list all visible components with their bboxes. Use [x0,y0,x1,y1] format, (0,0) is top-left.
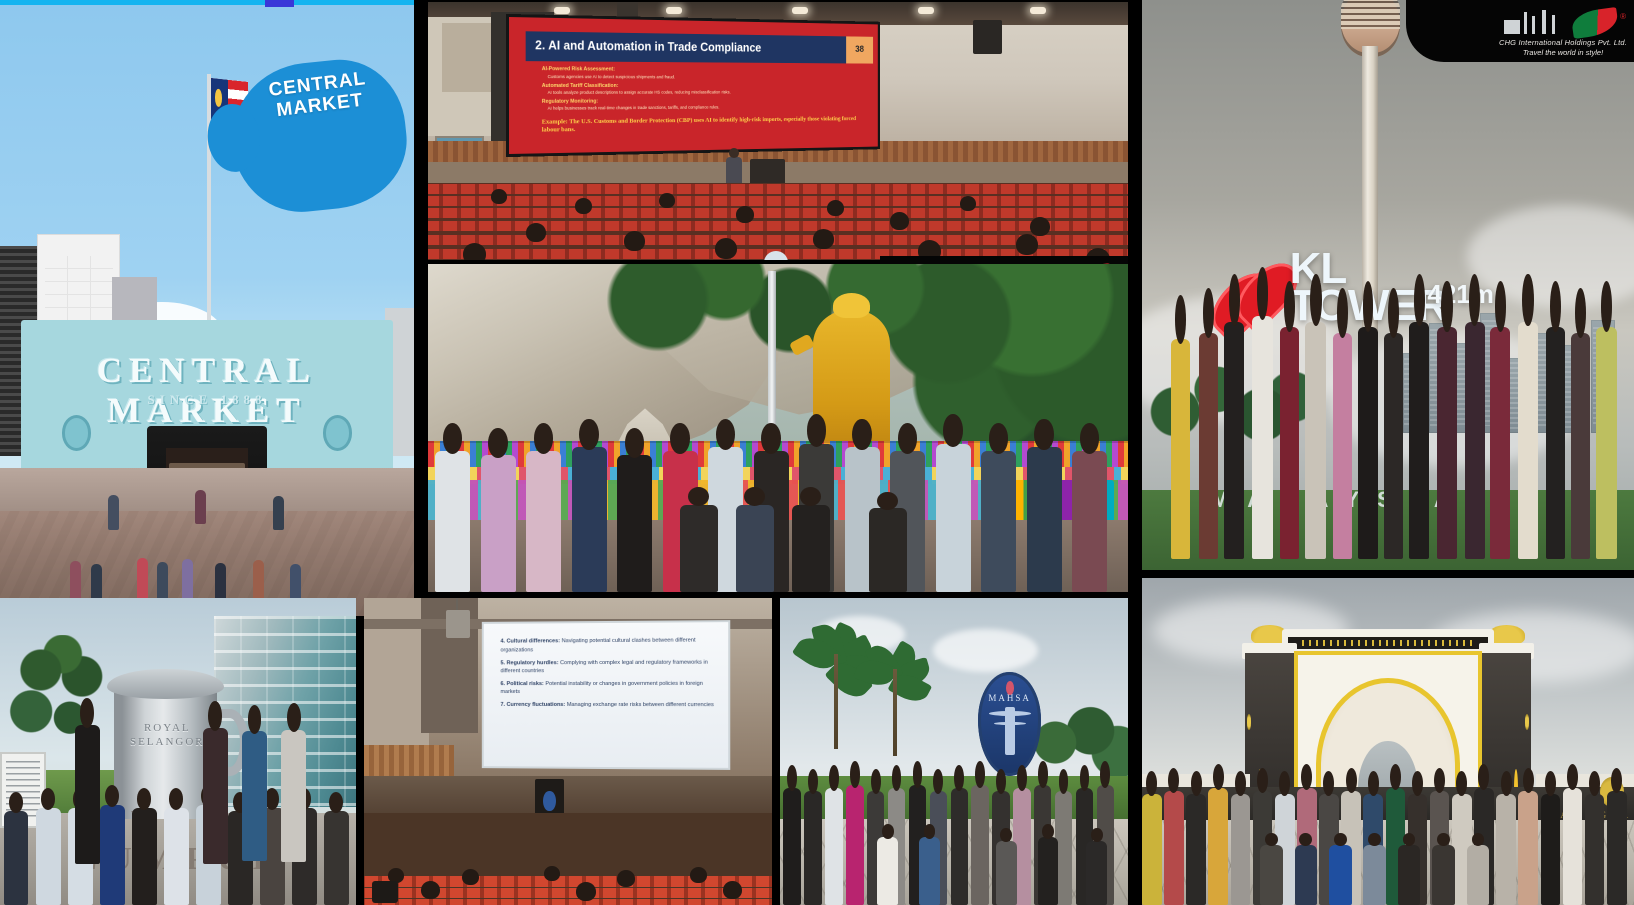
group-member [1490,327,1510,558]
slide-bullet-heading: Currency fluctuations: [507,702,566,708]
group-member [1518,322,1538,559]
presentation-screen: 2. AI and Automation in Trade Compliance… [509,17,878,154]
group-member-kneeling [1432,845,1455,905]
group-member [1358,327,1377,558]
photo-tile-kl-tower[interactable]: KL TOWER 421m MALAYSIA [1142,0,1634,570]
watermark-company: CHG International Holdings Pvt. Ltd. [1498,38,1628,47]
group-member-kneeling [1363,845,1386,905]
group-member [981,451,1016,592]
group-member-standing [242,731,267,861]
group-member-front [1086,841,1107,905]
group-member-kneeling [1295,845,1318,905]
slide-number: 38 [846,37,873,64]
audience-member [526,223,546,242]
slide-bullet-number: 7. [501,702,506,708]
audience-member [827,200,844,216]
seat-row [428,184,1128,194]
group-member-front [869,508,907,592]
group-member-front [877,837,898,905]
group-member [1171,339,1190,558]
group-member-standing [203,728,228,864]
audience-member [890,212,909,230]
slide-bullet-number: 5. [501,660,506,666]
royal-selangor-photo: ROYAL SELANGOR KUALA LUMPUR [0,598,356,905]
group-member [804,791,821,905]
slide-bullet-text: Managing exchange rate risks between dif… [567,702,714,708]
audience-member [624,231,645,251]
visitor [108,495,119,529]
audience-member [659,193,675,208]
central-market-since: SINCE 1888 [21,392,394,408]
photo-tile-lecture-risks-slide[interactable]: 4. Cultural differences: Navigating pote… [364,598,772,905]
group-member [1541,794,1561,905]
audience-member [736,206,754,223]
group-member [936,444,971,592]
audience-member [617,870,635,887]
decor-strip [0,0,414,5]
caduceus-icon [1005,707,1015,755]
group-member-standing [281,730,306,863]
group-member-kneeling [1467,845,1490,905]
slide-bullet-text: AI helps businesses track real-time chan… [547,105,864,113]
slide-bullet-text: AI tools analyze product descriptions to… [547,90,864,97]
group-member-kneeling [1329,845,1352,905]
group-member-front [996,841,1017,905]
group-member [1333,333,1352,558]
facade-medallion [62,415,92,451]
group-member [1596,327,1616,558]
skyline-icon: ® [1498,8,1628,38]
projector [446,610,470,638]
watermark-tagline: Travel the world in style! [1498,48,1628,57]
ceiling-light [1030,7,1046,14]
speaker-box-icon [973,20,1002,54]
seat-row [364,899,772,905]
group-member [1585,794,1605,905]
group-member [1224,322,1244,559]
palm-tree [857,629,941,764]
group-member [846,785,863,905]
group-member [1027,447,1062,592]
group-member-standing [75,725,100,864]
audience-member [491,189,507,204]
auditorium-photo: 2. AI and Automation in Trade Compliance… [428,2,1128,260]
group-member [1409,322,1429,559]
group-member [951,788,968,905]
audience-member [462,869,479,885]
group-member [481,455,516,592]
slide-bullet-heading: Cultural differences: [507,638,561,644]
group-member [971,785,988,905]
group-member [164,808,189,905]
tour-group [0,758,356,905]
visitor [195,490,206,523]
palm-trunk [834,654,839,748]
group-member [100,805,125,905]
tour-group [1142,755,1634,905]
palm-trunk [893,669,897,755]
tankard-lid [107,669,224,700]
slide-bullet: 4. Cultural differences: Navigating pote… [501,636,716,654]
projector [617,2,638,17]
arabic-calligraphy [1288,637,1488,649]
gate-medallion [1525,714,1529,729]
central-market-photo: CENTRAL MARKET SINCE 1888 [0,0,414,616]
mahsa-emblem-text: MAHSA [978,693,1041,703]
group-member [324,811,349,905]
group-member [1465,322,1485,559]
group-member [1199,333,1218,558]
slide-bullet: 7. Currency fluctuations: Managing excha… [501,701,716,710]
istana-negara-photo: ISTANA NEGARA [1142,578,1634,905]
group-member [572,447,607,592]
facade-medallion [323,415,353,451]
audience-member [1030,217,1050,236]
group-member [1231,794,1251,905]
slide-bullet: 6. Political risks: Potential instabilit… [501,679,716,696]
ceiling-light [554,7,570,14]
watermark-corner: ® CHG International Holdings Pvt. Ltd. T… [1406,0,1634,62]
group-member [1546,327,1565,558]
group-member [617,455,652,592]
tour-group [428,402,1128,592]
photo-tile-batu-caves[interactable] [428,264,1128,592]
group-member [1164,791,1184,905]
photo-tile-mahsa-university[interactable]: MAHSA [780,598,1128,905]
group-member-front [680,505,718,593]
group-member [1437,327,1457,558]
group-member [1142,794,1162,905]
seat-row [428,208,1128,218]
group-member [1607,791,1627,905]
group-member [36,808,61,905]
audience-member [463,243,486,260]
photo-collage: CENTRAL MARKET SINCE 1888 [0,0,1634,905]
audience-member [544,866,560,881]
slide-title-band: 2. AI and Automation in Trade Compliance [525,31,864,63]
photo-tile-central-market[interactable]: CENTRAL MARKET SINCE 1888 [0,0,414,616]
slide-bullet-text: Customs agencies use AI to detect suspic… [547,74,864,81]
seating-area [428,183,1128,260]
slide-body: AI-Powered Risk Assessment: Customs agen… [541,67,864,151]
group-member [1252,316,1273,559]
audience-member [575,198,592,214]
ceiling-light [792,7,808,14]
group-member [132,808,157,905]
visitor [273,496,284,530]
audience-member [813,229,834,249]
group-member [825,788,842,905]
tour-group [1162,262,1625,558]
photo-tile-auditorium-ai-slide[interactable]: 2. AI and Automation in Trade Compliance… [428,2,1128,260]
audience-member [421,881,440,899]
tankard-engraving: ROYAL SELANGOR [128,721,206,750]
ceiling-light [666,7,682,14]
audience-member [723,881,742,899]
slide-bullet-number: 6. [501,681,506,687]
mahsa-university-photo: MAHSA [780,598,1128,905]
audience-member [576,882,596,901]
bag [372,881,398,903]
tour-group [780,752,1128,905]
seating-area [364,813,772,905]
slide-body: 4. Cultural differences: Navigating pote… [501,636,716,761]
audience-member [690,867,707,883]
group-member-front [792,505,830,593]
group-member-front [919,837,940,905]
group-member [1280,327,1299,558]
tankard-engraving-line2: SELANGOR [130,736,205,748]
audience-member [960,196,976,211]
decor-strip-blue [265,0,294,7]
group-member [1384,333,1403,558]
group-member [4,811,29,905]
slide-title: 2. AI and Automation in Trade Compliance [535,39,761,56]
ceiling-light [918,7,934,14]
lecture-hall-photo: 4. Cultural differences: Navigating pote… [364,598,772,905]
group-member [1571,333,1590,558]
photo-tile-istana-negara[interactable]: ISTANA NEGARA [1142,578,1634,905]
group-member [526,451,561,592]
group-member [1186,794,1206,905]
slide-bullet-heading: Regulatory hurdles: [507,659,559,665]
slide-example: Example: The U.S. Customs and Border Pro… [541,116,864,135]
presenter [726,157,743,183]
watermark-logo: ® CHG International Holdings Pvt. Ltd. T… [1498,8,1628,57]
group-member-front [736,505,774,593]
presentation-screen: 4. Cultural differences: Navigating pote… [484,622,728,768]
group-member-front [1038,837,1059,905]
seat-row [428,196,1128,206]
group-member [783,788,800,905]
registered-icon: ® [1620,12,1626,21]
tankard-engraving-line1: ROYAL [144,722,191,734]
audience-member [1016,234,1038,255]
slide-bullet-number: 4. [501,639,506,645]
slide-bullet-heading: Political risks: [507,681,544,687]
cloud-icon [933,629,1037,672]
group-member [1518,791,1538,905]
group-member [1563,788,1583,905]
slide-bullet: 5. Regulatory hurdles: Complying with co… [501,658,716,675]
visitor [137,558,148,604]
group-member-kneeling [1398,845,1421,905]
batu-caves-photo [428,264,1128,592]
group-member [1496,794,1516,905]
group-member [1305,322,1326,559]
gate-medallion [1247,714,1251,729]
group-member [435,451,470,592]
audience-member [715,238,737,259]
group-member-kneeling [1260,845,1283,905]
photo-tile-royal-selangor[interactable]: ROYAL SELANGOR KUALA LUMPUR [0,598,356,905]
group-member [1072,451,1107,592]
group-member [1208,788,1228,905]
tower-observation-deck [1341,0,1400,29]
kl-tower-photo: KL TOWER 421m MALAYSIA [1142,0,1634,570]
